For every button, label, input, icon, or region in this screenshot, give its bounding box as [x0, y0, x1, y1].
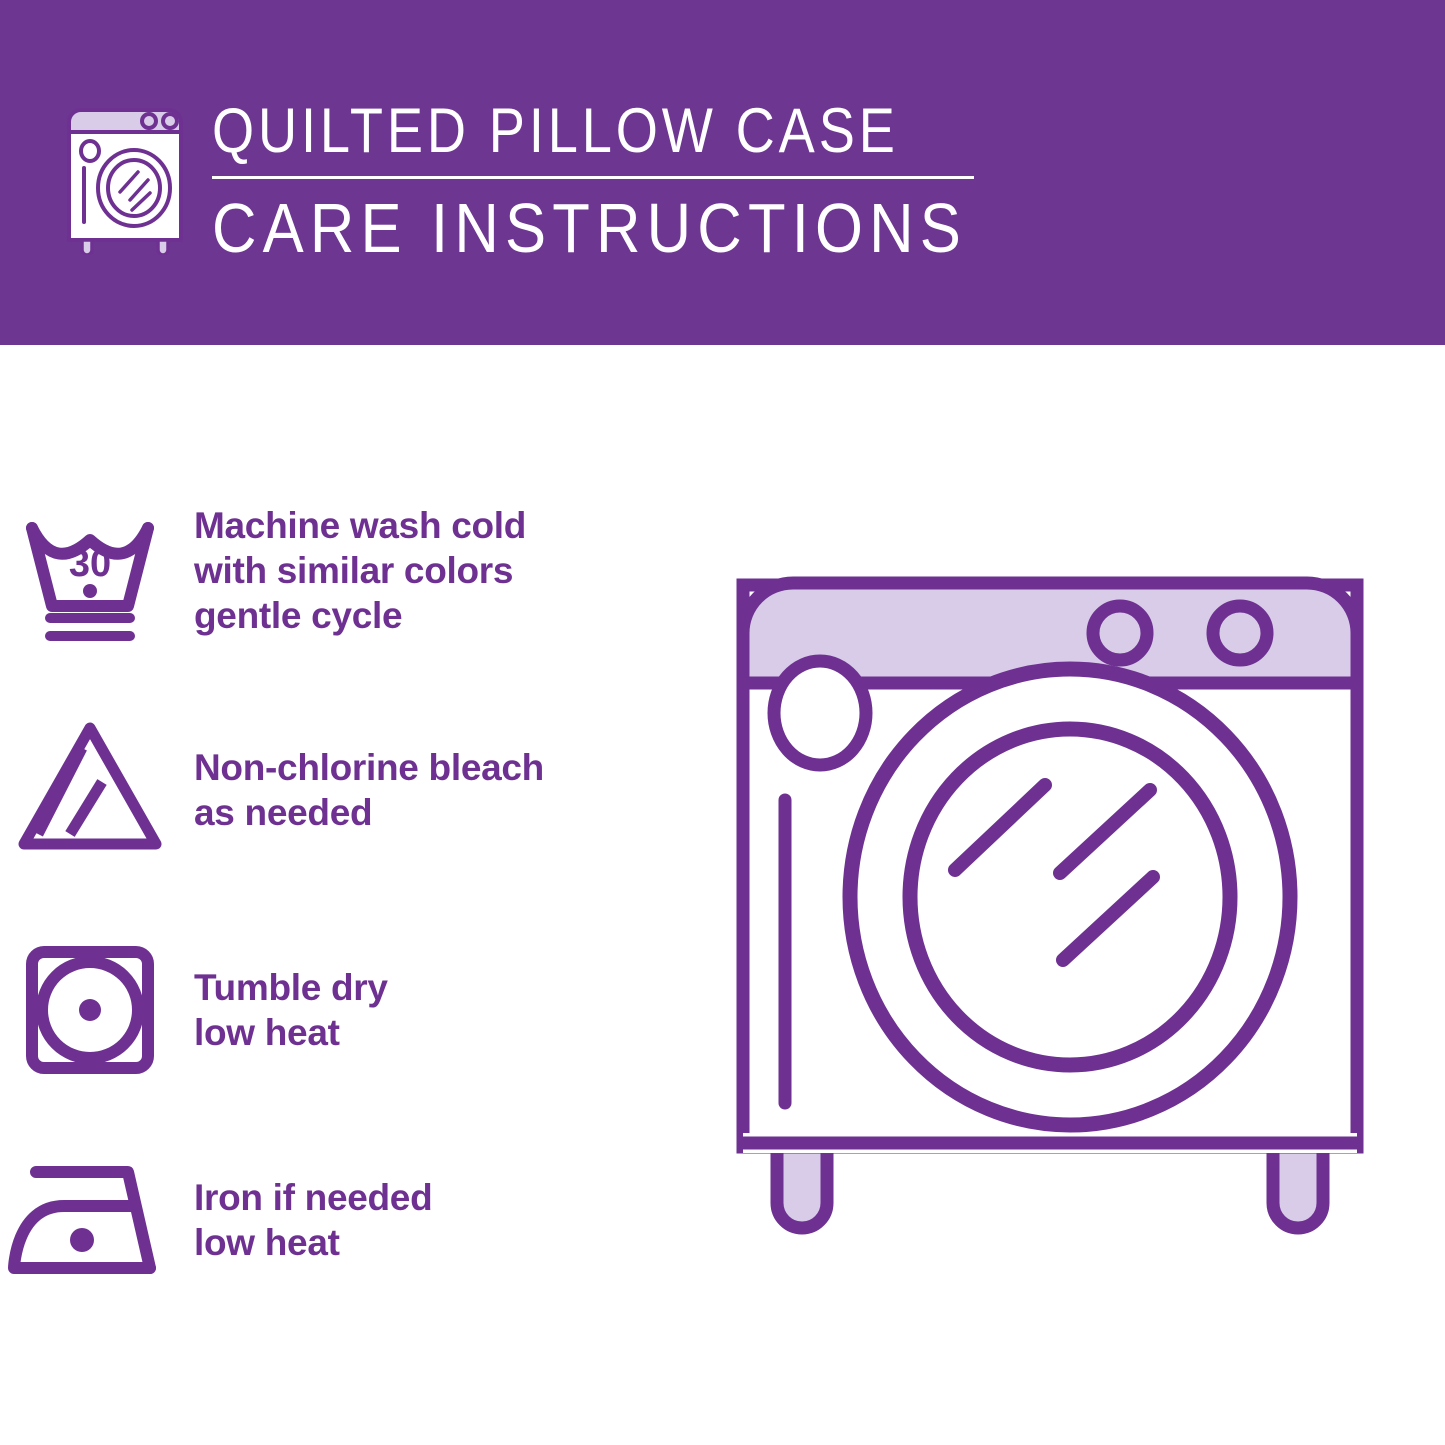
- washer-drum-inner: [910, 729, 1230, 1065]
- iron-low-heat-icon: [0, 1135, 180, 1305]
- product-title: QUILTED PILLOW CASE: [212, 96, 883, 166]
- wash-tub-30-icon: 30: [0, 485, 180, 655]
- care-text-iron: Iron if needed low heat: [180, 1175, 432, 1265]
- header-banner: QUILTED PILLOW CASE CARE INSTRUCTIONS: [0, 0, 1445, 345]
- page-title: CARE INSTRUCTIONS: [212, 189, 898, 267]
- washing-machine-illustration: [715, 465, 1415, 1375]
- care-text-machine-wash: Machine wash cold with similar colors ge…: [180, 503, 526, 638]
- care-text-bleach: Non-chlorine bleach as needed: [180, 745, 544, 835]
- washer-indicator-light: [774, 661, 866, 765]
- care-text-tumble-dry: Tumble dry low heat: [180, 965, 388, 1055]
- washing-machine-icon: [60, 100, 190, 255]
- care-row-iron: Iron if needed low heat: [0, 1135, 680, 1305]
- non-chlorine-bleach-triangle-icon: [0, 705, 180, 875]
- title-divider: [212, 176, 974, 179]
- care-row-tumble-dry: Tumble dry low heat: [0, 925, 680, 1095]
- care-instructions-infographic: QUILTED PILLOW CASE CARE INSTRUCTIONS 30: [0, 0, 1445, 1445]
- washer-knob-1: [1093, 606, 1147, 660]
- washer-leg-right: [1273, 1147, 1323, 1228]
- wash-temperature-label: 30: [69, 543, 111, 585]
- care-instruction-list: 30 Machine wash cold with similar colors…: [0, 345, 700, 1445]
- header-text-block: QUILTED PILLOW CASE CARE INSTRUCTIONS: [212, 96, 992, 267]
- care-row-machine-wash: 30 Machine wash cold with similar colors…: [0, 485, 680, 655]
- washer-knob-2: [1213, 606, 1267, 660]
- care-row-bleach: Non-chlorine bleach as needed: [0, 705, 680, 875]
- washer-leg-left: [777, 1147, 827, 1228]
- tumble-dry-low-icon: [0, 925, 180, 1095]
